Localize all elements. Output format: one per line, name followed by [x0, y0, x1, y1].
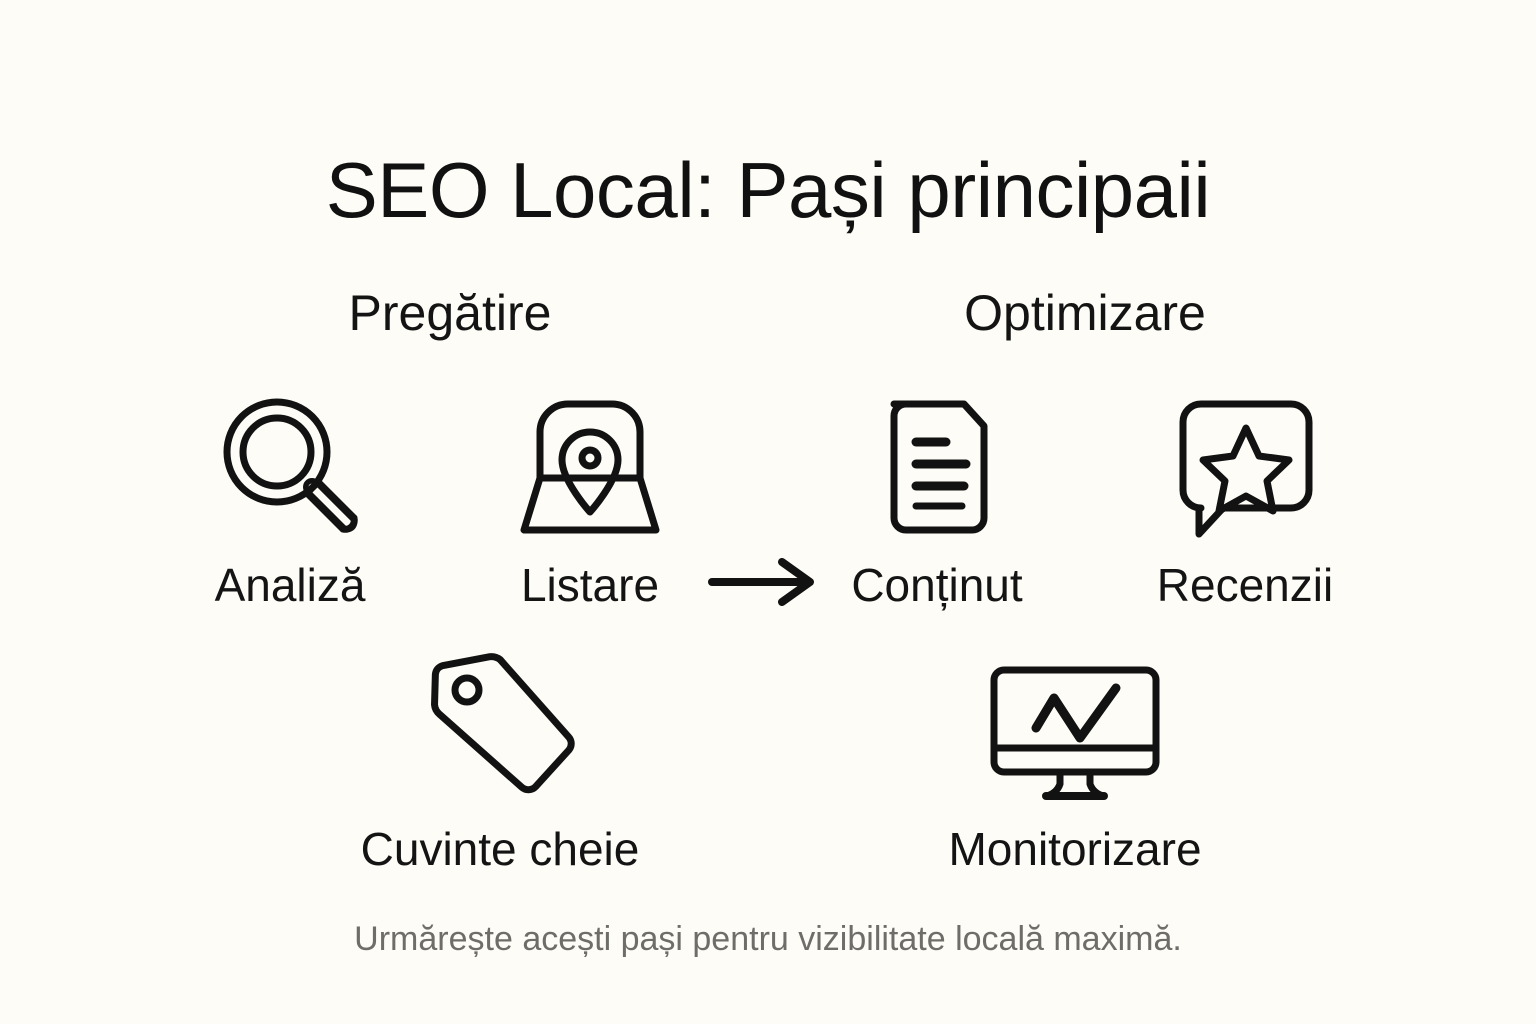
group-header-pregatire: Pregătire: [180, 288, 720, 338]
step-monitorizare[interactable]: Monitorizare: [915, 650, 1235, 872]
step-label-recenzii: Recenzii: [1130, 562, 1360, 608]
review-star-icon: [1130, 390, 1360, 540]
infographic-canvas: SEO Local: Pași principaii Pregătire Opt…: [0, 0, 1536, 1024]
step-label-analiza: Analiză: [175, 562, 405, 608]
monitor-chart-icon: [915, 650, 1235, 800]
step-continut[interactable]: Conținut: [822, 390, 1052, 608]
arrow-right-icon: [708, 558, 820, 606]
step-label-listare: Listare: [475, 562, 705, 608]
step-label-monitorizare: Monitorizare: [915, 826, 1235, 872]
step-recenzii[interactable]: Recenzii: [1130, 390, 1360, 608]
document-icon: [822, 390, 1052, 540]
step-label-cuvinte-cheie: Cuvinte cheie: [340, 826, 660, 872]
storefront-pin-icon: [475, 390, 705, 540]
step-label-continut: Conținut: [822, 562, 1052, 608]
magnifier-icon: [175, 390, 405, 540]
price-tag-icon: [340, 650, 660, 800]
page-title: SEO Local: Pași principaii: [0, 150, 1536, 232]
step-cuvinte-cheie[interactable]: Cuvinte cheie: [340, 650, 660, 872]
group-header-optimizare: Optimizare: [815, 288, 1355, 338]
step-listare[interactable]: Listare: [475, 390, 705, 608]
footer-note: Urmărește acești pași pentru vizibilitat…: [0, 921, 1536, 958]
step-analiza[interactable]: Analiză: [175, 390, 405, 608]
